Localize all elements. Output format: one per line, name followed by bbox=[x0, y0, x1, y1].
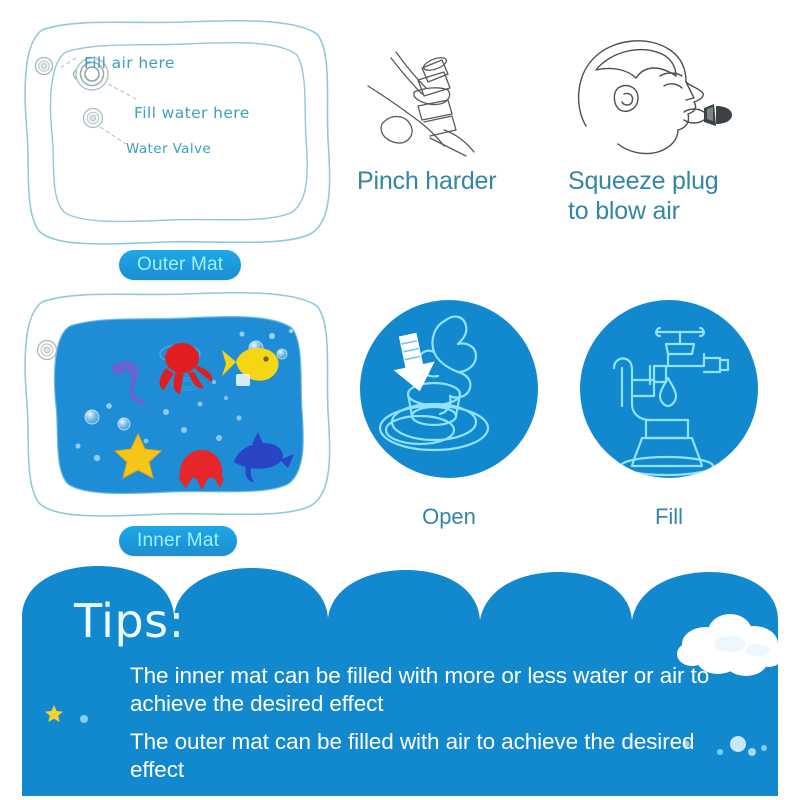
hand-opening-valve-icon bbox=[360, 300, 538, 478]
squeeze-caption-line-1: Squeeze plug bbox=[568, 166, 783, 196]
inner-mat-label-text: Inner Mat bbox=[137, 530, 219, 552]
hand-pinching-valve-icon bbox=[356, 30, 546, 170]
annotation-fill-air-here: Fill air here bbox=[84, 56, 175, 72]
annotation-fill-water-here: Fill water here bbox=[134, 106, 250, 122]
step-open-circle bbox=[360, 300, 538, 478]
head-blowing-into-plug-icon bbox=[566, 30, 776, 170]
pinch-harder-illustration bbox=[356, 30, 546, 170]
tips-content: Tips: The inner mat can be filled with m… bbox=[0, 562, 800, 800]
outer-mat-label-badge: Outer Mat bbox=[119, 250, 241, 280]
step-fill-circle bbox=[580, 300, 758, 478]
tip-line-2: The outer mat can be filled with air to … bbox=[130, 728, 730, 784]
inner-mat-label-badge: Inner Mat bbox=[119, 526, 237, 556]
outer-mat-illustration: Fill air here Fill water here Water Valv… bbox=[14, 14, 344, 264]
faucet-filling-valve-icon bbox=[580, 300, 758, 478]
bubble-dot-icon-left bbox=[64, 708, 94, 728]
air-plug-icon bbox=[704, 104, 732, 126]
outer-mat-edge-valve-icon bbox=[36, 58, 53, 75]
outer-mat-label-text: Outer Mat bbox=[137, 254, 223, 276]
instruction-infographic: Fill air here Fill water here Water Valv… bbox=[0, 0, 800, 800]
step-fill-caption: Fill bbox=[580, 504, 758, 530]
tip-line-1: The inner mat can be filled with more or… bbox=[130, 662, 730, 718]
annotation-water-valve: Water Valve bbox=[126, 143, 211, 157]
squeeze-plug-caption: Squeeze plug to blow air bbox=[568, 166, 783, 226]
water-valve-icon bbox=[84, 109, 103, 128]
squeeze-plug-illustration bbox=[566, 30, 776, 170]
inner-mat-valve-icon bbox=[38, 341, 57, 360]
small-star-icon bbox=[44, 704, 64, 724]
tips-banner: Tips: The inner mat can be filled with m… bbox=[0, 562, 800, 800]
inner-mat-illustration bbox=[14, 286, 344, 536]
pinch-harder-caption: Pinch harder bbox=[357, 166, 557, 196]
tips-title: Tips: bbox=[74, 598, 185, 644]
outer-mat-drawing bbox=[14, 14, 344, 264]
squeeze-caption-line-2: to blow air bbox=[568, 196, 783, 226]
step-open-caption: Open bbox=[360, 504, 538, 530]
inner-mat-drawing bbox=[14, 286, 344, 536]
